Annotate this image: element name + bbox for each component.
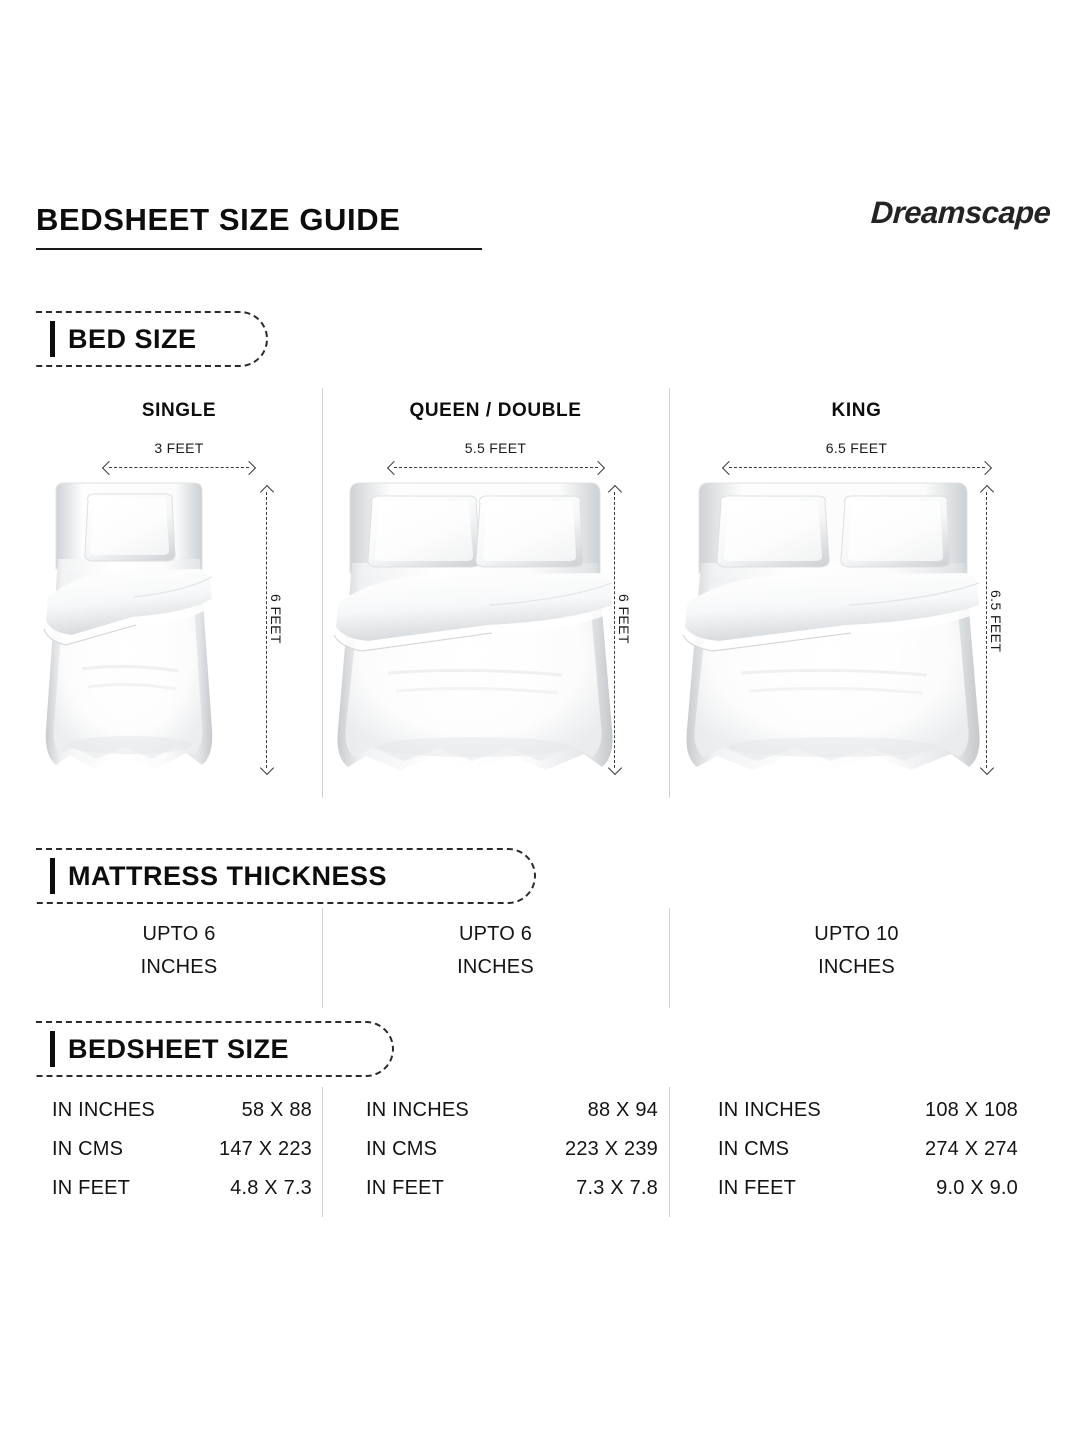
table-row: IN CMS 274 X 274 — [718, 1139, 1018, 1159]
bed-length-label: 6 FEET — [268, 594, 284, 644]
brand-logo: Dreamscape — [870, 195, 1051, 231]
bed-width-label: 5.5 FEET — [322, 440, 669, 456]
mattress-thickness-queen-double: UPTO 6 INCHES — [322, 918, 669, 984]
thickness-line-1: UPTO 10 — [669, 918, 1044, 951]
width-dimension-arrow — [103, 462, 255, 473]
table-row: IN FEET 7.3 X 7.8 — [366, 1178, 658, 1198]
bed-length-label: 6.5 FEET — [988, 590, 1004, 652]
table-row: IN FEET 4.8 X 7.3 — [52, 1178, 312, 1198]
bed-column-single: SINGLE 3 FEET — [36, 400, 322, 788]
thickness-line-1: UPTO 6 — [36, 918, 322, 951]
size-unit-label: IN INCHES — [52, 1100, 155, 1120]
width-dimension-arrow — [388, 462, 604, 473]
section-heading-label: MATTRESS THICKNESS — [68, 861, 425, 892]
section-heading-bedsheet-size: BEDSHEET SIZE — [36, 1021, 394, 1077]
table-row: IN CMS 147 X 223 — [52, 1139, 312, 1159]
column-divider — [669, 1087, 670, 1217]
size-value: 147 X 223 — [219, 1139, 312, 1159]
size-unit-label: IN FEET — [366, 1178, 444, 1198]
page-title: BEDSHEET SIZE GUIDE — [36, 204, 482, 235]
thickness-line-2: INCHES — [322, 951, 669, 984]
section-heading-label: BEDSHEET SIZE — [68, 1034, 327, 1065]
width-dimension-arrow — [723, 462, 991, 473]
bedsheet-size-table-single: IN INCHES 58 X 88 IN CMS 147 X 223 IN FE… — [52, 1100, 312, 1217]
bed-size-name: SINGLE — [36, 400, 322, 422]
thickness-line-2: INCHES — [669, 951, 1044, 984]
bed-size-name: QUEEN / DOUBLE — [322, 400, 669, 422]
heading-accent-bar — [50, 858, 55, 894]
bed-column-king: KING 6.5 FEET — [669, 400, 1044, 788]
title-block: BEDSHEET SIZE GUIDE — [36, 204, 482, 250]
table-row: IN FEET 9.0 X 9.0 — [718, 1178, 1018, 1198]
bed-width-label: 6.5 FEET — [669, 440, 1044, 456]
bed-length-label: 6 FEET — [616, 594, 632, 644]
column-divider — [322, 1087, 323, 1217]
size-value: 7.3 X 7.8 — [576, 1178, 658, 1198]
size-value: 9.0 X 9.0 — [936, 1178, 1018, 1198]
title-underline — [36, 248, 482, 250]
section-heading-bed-size: BED SIZE — [36, 311, 268, 367]
size-unit-label: IN FEET — [52, 1178, 130, 1198]
heading-accent-bar — [50, 1031, 55, 1067]
table-row: IN INCHES 108 X 108 — [718, 1100, 1018, 1120]
size-value: 58 X 88 — [242, 1100, 312, 1120]
heading-accent-bar — [50, 321, 55, 357]
table-row: IN CMS 223 X 239 — [366, 1139, 658, 1159]
size-unit-label: IN CMS — [52, 1139, 123, 1159]
section-heading-mattress-thickness: MATTRESS THICKNESS — [36, 848, 536, 904]
mattress-thickness-single: UPTO 6 INCHES — [36, 918, 322, 984]
table-row: IN INCHES 58 X 88 — [52, 1100, 312, 1120]
table-row: IN INCHES 88 X 94 — [366, 1100, 658, 1120]
thickness-line-2: INCHES — [36, 951, 322, 984]
bed-width-label: 3 FEET — [36, 440, 322, 456]
size-value: 223 X 239 — [565, 1139, 658, 1159]
bedsheet-size-table-queen-double: IN INCHES 88 X 94 IN CMS 223 X 239 IN FE… — [366, 1100, 658, 1217]
bed-size-name: KING — [669, 400, 1044, 422]
size-value: 88 X 94 — [588, 1100, 658, 1120]
size-value: 108 X 108 — [925, 1100, 1018, 1120]
size-unit-label: IN INCHES — [718, 1100, 821, 1120]
bed-column-queen-double: QUEEN / DOUBLE 5.5 FEET — [322, 400, 669, 788]
thickness-line-1: UPTO 6 — [322, 918, 669, 951]
section-heading-label: BED SIZE — [68, 324, 235, 355]
size-unit-label: IN CMS — [718, 1139, 789, 1159]
mattress-thickness-king: UPTO 10 INCHES — [669, 918, 1044, 984]
bedsheet-size-table-king: IN INCHES 108 X 108 IN CMS 274 X 274 IN … — [718, 1100, 1018, 1217]
size-unit-label: IN CMS — [366, 1139, 437, 1159]
size-value: 4.8 X 7.3 — [230, 1178, 312, 1198]
size-unit-label: IN FEET — [718, 1178, 796, 1198]
size-value: 274 X 274 — [925, 1139, 1018, 1159]
size-guide-page: BEDSHEET SIZE GUIDE Dreamscape BED SIZE … — [0, 0, 1080, 1440]
size-unit-label: IN INCHES — [366, 1100, 469, 1120]
